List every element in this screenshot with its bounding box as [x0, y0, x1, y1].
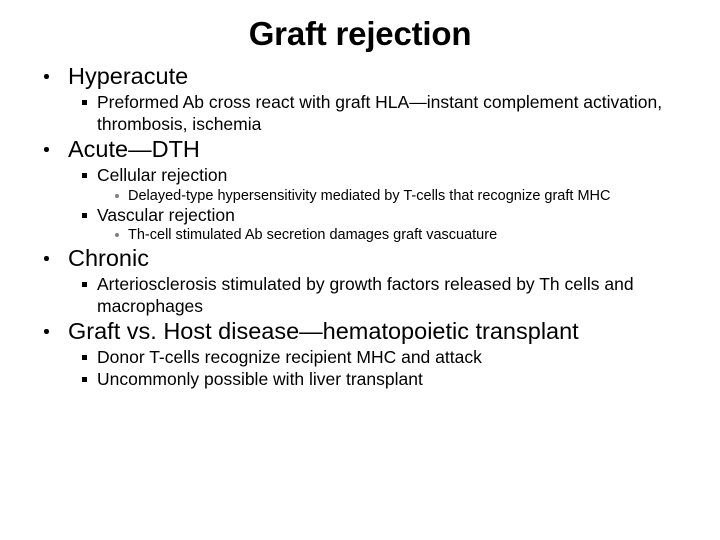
- list-item-label: Uncommonly possible with liver transplan…: [97, 369, 680, 391]
- list-item-label: Graft vs. Host disease—hematopoietic tra…: [68, 317, 684, 346]
- list-item-label: Arteriosclerosis stimulated by growth fa…: [97, 274, 680, 317]
- bullet-small-dot-icon: [115, 194, 119, 198]
- list-item-label: Donor T-cells recognize recipient MHC an…: [97, 347, 680, 369]
- list-item-label: Th-cell stimulated Ab secretion damages …: [128, 226, 680, 244]
- list-item-label: Cellular rejection: [97, 165, 680, 187]
- list-item-label: Hyperacute: [68, 62, 684, 91]
- list-item-label: Vascular rejection: [97, 205, 680, 227]
- list-item: Preformed Ab cross react with graft HLA—…: [0, 92, 720, 135]
- list-item: Vascular rejection: [0, 205, 720, 227]
- list-item: Chronic: [0, 244, 720, 273]
- bullet-square-icon: [82, 355, 87, 360]
- list-item: Acute—DTH: [0, 135, 720, 164]
- list-item: Arteriosclerosis stimulated by growth fa…: [0, 274, 720, 317]
- slide-canvas: Graft rejection Hyperacute Preformed Ab …: [0, 0, 720, 540]
- bullet-dot-icon: [44, 329, 49, 334]
- bullet-list: Hyperacute Preformed Ab cross react with…: [0, 62, 720, 390]
- list-item: Uncommonly possible with liver transplan…: [0, 369, 720, 391]
- bullet-small-dot-icon: [115, 233, 119, 237]
- bullet-square-icon: [82, 173, 87, 178]
- list-item: Hyperacute: [0, 62, 720, 91]
- list-item-label: Acute—DTH: [68, 135, 684, 164]
- list-item: Th-cell stimulated Ab secretion damages …: [0, 226, 720, 244]
- list-item: Donor T-cells recognize recipient MHC an…: [0, 347, 720, 369]
- list-item-label: Delayed-type hypersensitivity mediated b…: [128, 187, 680, 205]
- page-title: Graft rejection: [0, 14, 720, 54]
- list-item-label: Preformed Ab cross react with graft HLA—…: [97, 92, 680, 135]
- bullet-square-icon: [82, 282, 87, 287]
- bullet-square-icon: [82, 213, 87, 218]
- bullet-square-icon: [82, 100, 87, 105]
- list-item: Graft vs. Host disease—hematopoietic tra…: [0, 317, 720, 346]
- bullet-dot-icon: [44, 147, 49, 152]
- list-item-label: Chronic: [68, 244, 684, 273]
- list-item: Cellular rejection: [0, 165, 720, 187]
- list-item: Delayed-type hypersensitivity mediated b…: [0, 187, 720, 205]
- bullet-square-icon: [82, 377, 87, 382]
- bullet-dot-icon: [44, 256, 49, 261]
- bullet-dot-icon: [44, 74, 49, 79]
